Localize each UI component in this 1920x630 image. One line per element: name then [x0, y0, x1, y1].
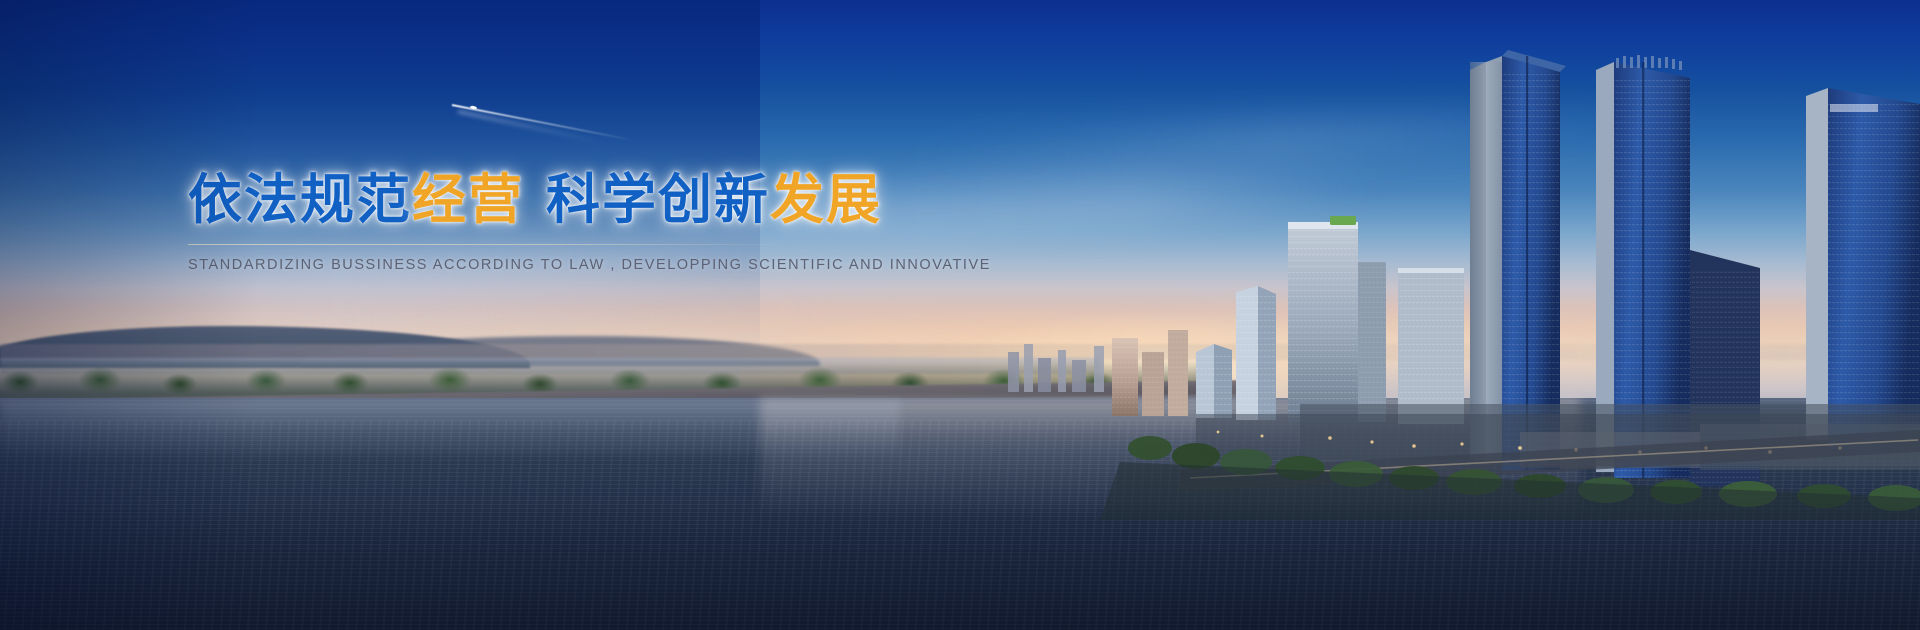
slab-tower — [1398, 268, 1464, 424]
skyline-svg — [1000, 0, 1920, 520]
title-divider — [188, 244, 798, 245]
headline-segment-4-accent: 发展 — [770, 170, 882, 230]
headline-segment-3: 科学创新 — [546, 170, 770, 230]
low-rise-cluster — [1112, 330, 1188, 416]
hero-banner: 依法规范经营科学创新发展 STANDARDIZING BUSSINESS ACC… — [0, 0, 1920, 630]
page-subtitle: STANDARDIZING BUSSINESS ACCORDING TO LAW… — [188, 257, 828, 273]
rooftop-sign — [1330, 216, 1356, 225]
city-skyline — [1000, 0, 1920, 520]
building-sign — [1830, 104, 1878, 112]
residential-tower — [1288, 216, 1386, 422]
distant-towers — [1008, 344, 1104, 392]
headline-segment-2-accent: 经营 — [412, 170, 524, 230]
slim-towers — [1196, 286, 1276, 420]
headline-segment-1: 依法规范 — [188, 170, 412, 230]
page-title: 依法规范经营科学创新发展 — [188, 170, 828, 230]
headline-block: 依法规范经营科学创新发展 STANDARDIZING BUSSINESS ACC… — [188, 170, 828, 273]
right-edge-tower — [1806, 88, 1920, 450]
